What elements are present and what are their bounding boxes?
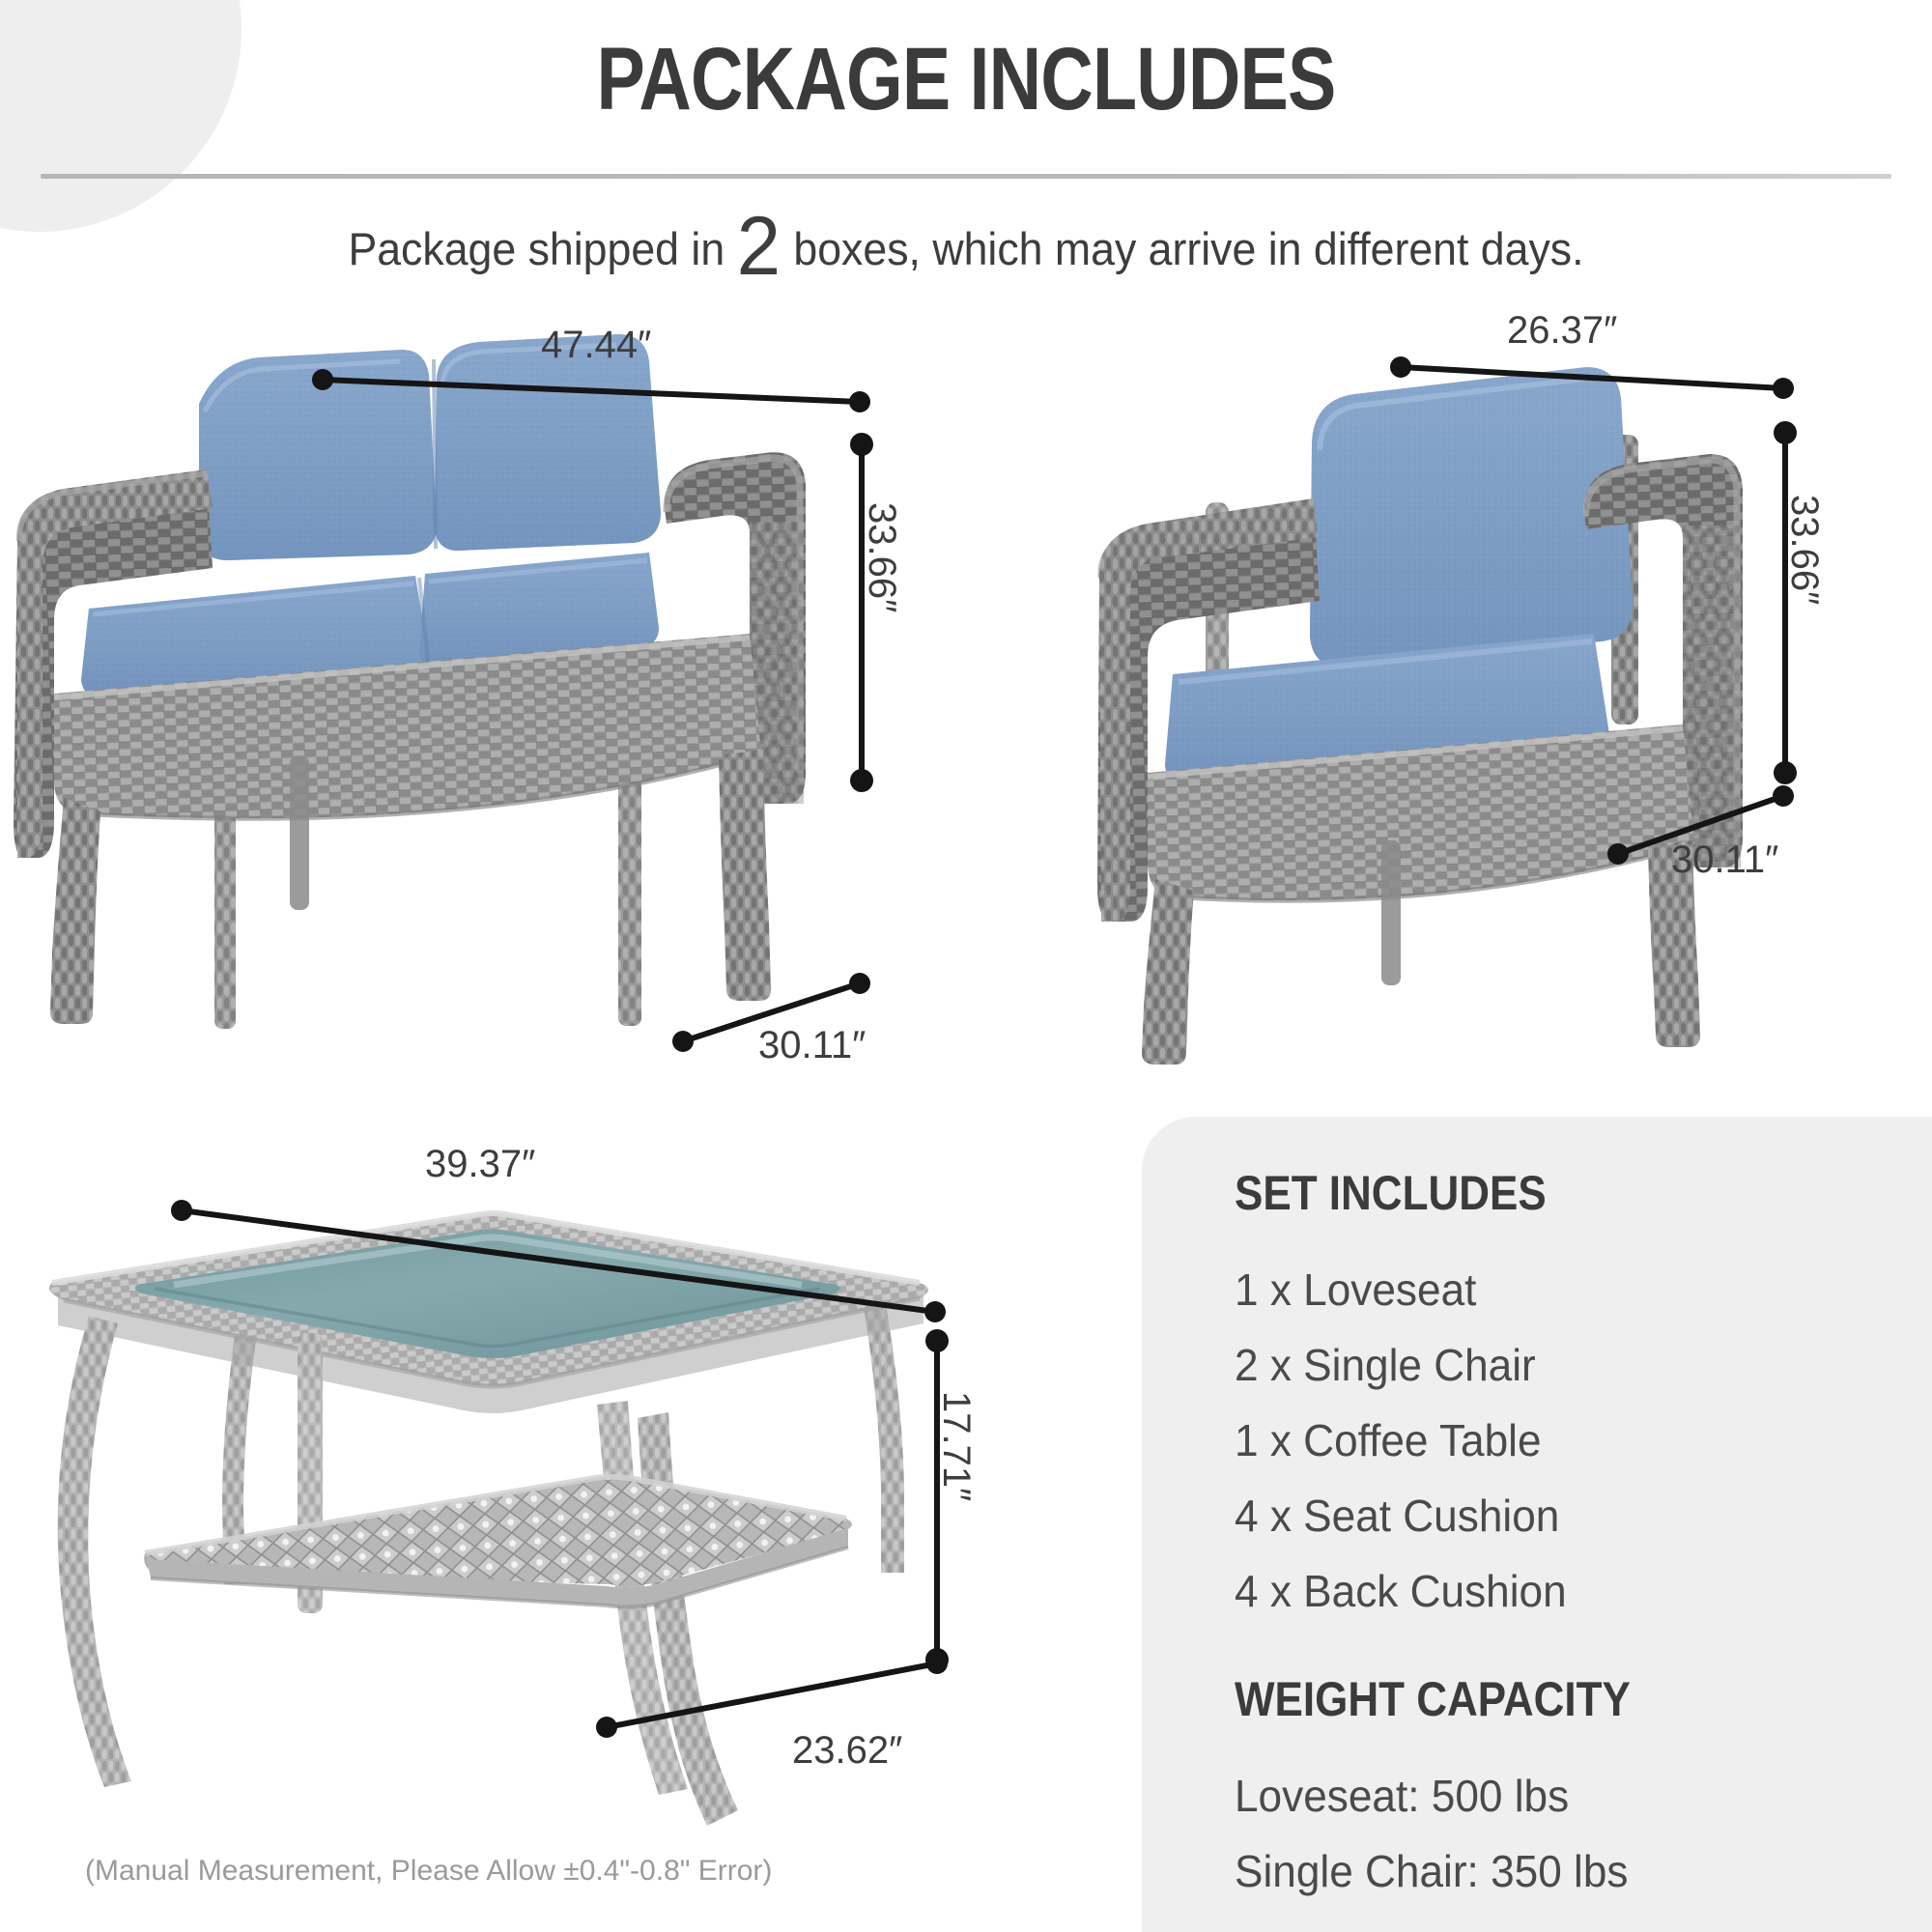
weight-capacity-heading: WEIGHT CAPACITY <box>1235 1671 1631 1727</box>
chair-depth-label: 30.11″ <box>1671 838 1778 882</box>
set-includes-heading: SET INCLUDES <box>1235 1165 1547 1221</box>
weight-capacity-item-1: Single Chair: 350 lbs <box>1235 1845 1628 1897</box>
weight-capacity-item-0: Loveseat: 500 lbs <box>1235 1770 1569 1822</box>
table-depth-dimension <box>39 1169 1063 1884</box>
header-divider <box>41 174 1891 179</box>
subtitle-box-count: 2 <box>737 200 781 293</box>
info-panel: SET INCLUDES 1 x Loveseat 2 x Single Cha… <box>1142 1117 1932 1932</box>
loveseat-depth-label: 30.11″ <box>758 1024 866 1067</box>
chair-depth-dimension <box>1092 319 1932 1072</box>
set-includes-item-4: 4 x Back Cushion <box>1235 1565 1567 1617</box>
shipping-subtitle: Package shipped in 2 boxes, which may ar… <box>48 205 1884 288</box>
subtitle-text-after: boxes, which may arrive in different day… <box>781 223 1584 274</box>
header: PACKAGE INCLUDES <box>0 0 1932 184</box>
set-includes-item-0: 1 x Loveseat <box>1235 1264 1476 1316</box>
set-includes-item-1: 2 x Single Chair <box>1235 1339 1536 1391</box>
set-includes-item-3: 4 x Seat Cushion <box>1235 1490 1559 1542</box>
loveseat-figure: 47.44″ 33.66″ 30.11″ <box>0 319 947 1072</box>
page-title: PACKAGE INCLUDES <box>174 35 1758 124</box>
subtitle-text-before: Package shipped in <box>348 223 736 274</box>
table-depth-label: 23.62″ <box>792 1729 902 1773</box>
loveseat-depth-dimension <box>0 319 947 1072</box>
set-includes-item-2: 1 x Coffee Table <box>1235 1414 1542 1466</box>
measurement-disclaimer: (Manual Measurement, Please Allow ±0.4"-… <box>85 1855 772 1888</box>
coffee-table-figure: 39.37″ 17.71″ 23.62″ <box>39 1169 1063 1884</box>
chair-figure: 26.37″ 33.66″ 30.11″ <box>1092 319 1932 1072</box>
